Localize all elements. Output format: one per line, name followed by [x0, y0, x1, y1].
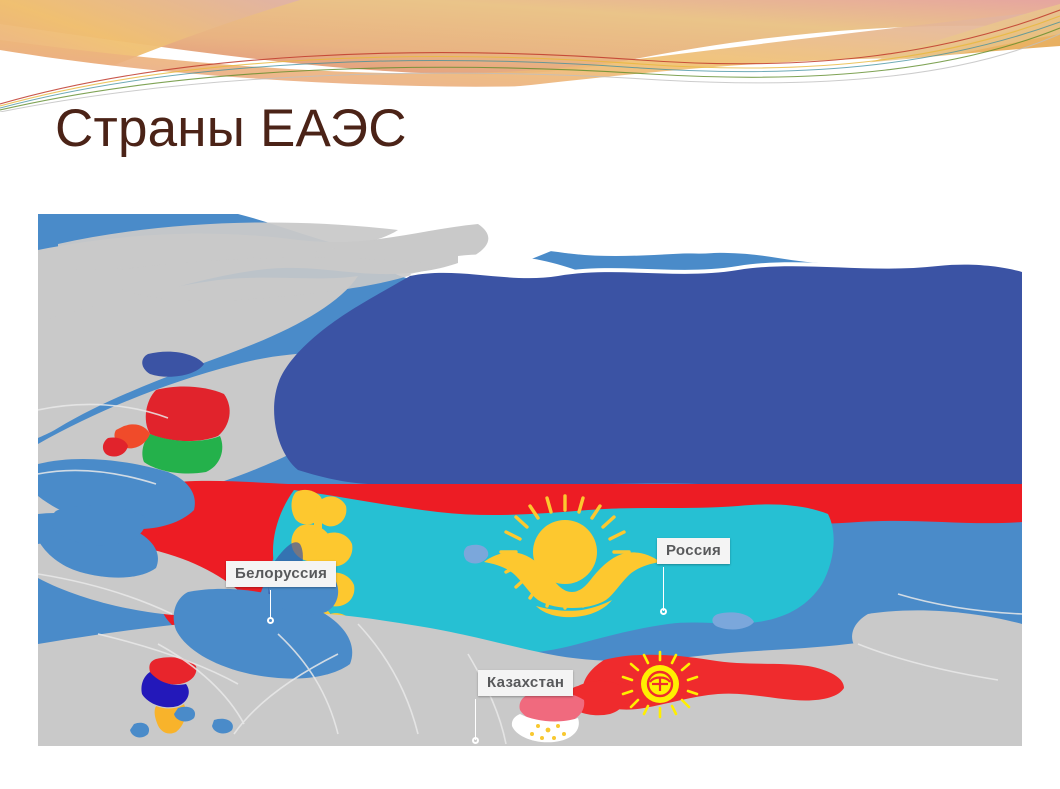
header-wedge-gold	[800, 18, 1060, 84]
header-line-green	[0, 28, 1060, 110]
map-image: Белоруссия Россия Казахстан Армения Кирг…	[38, 214, 1022, 746]
belarus-flag-red	[146, 387, 230, 442]
header-line-gold	[0, 16, 1060, 106]
page-title: Страны ЕАЭС	[55, 100, 955, 157]
leader-dot-kazakhstan	[472, 737, 479, 744]
header-band-rose	[0, 0, 300, 106]
leader-line-russia	[663, 567, 664, 611]
slide-canvas: Страны ЕАЭС	[0, 0, 1060, 789]
header-band-orange	[0, 10, 1060, 91]
russia-flag-blue-stripe	[274, 265, 1022, 485]
header-line-teal	[0, 22, 1060, 108]
title-area: Страны ЕАЭС	[55, 100, 955, 180]
map-label-belarus[interactable]: Белоруссия	[226, 561, 336, 587]
map-label-kazakhstan[interactable]: Казахстан	[478, 670, 573, 696]
header-band-peach	[0, 0, 1060, 74]
leader-line-belarus	[270, 590, 271, 619]
header-line-red	[0, 10, 1060, 104]
header-wedge-sand	[790, 4, 1060, 90]
map-label-russia[interactable]: Россия	[657, 538, 730, 564]
header-decoration	[0, 0, 1060, 112]
leader-dot-belarus	[267, 617, 274, 624]
leader-dot-russia	[660, 608, 667, 615]
map-graphic	[38, 214, 1022, 746]
leader-line-kazakhstan	[475, 699, 476, 740]
